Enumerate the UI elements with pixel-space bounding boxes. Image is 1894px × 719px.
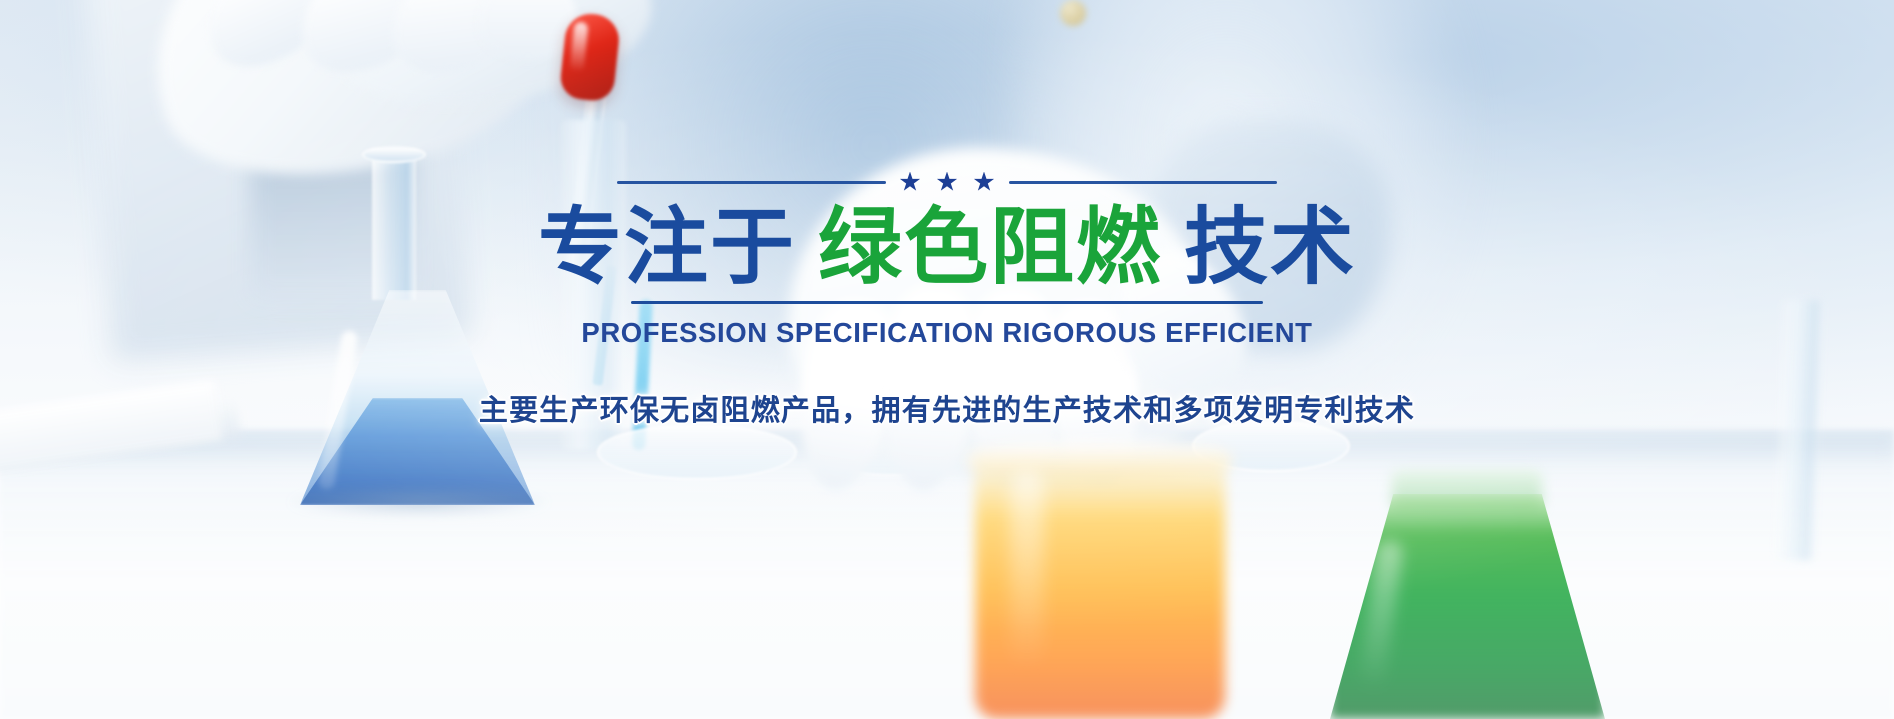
page-title: 专注于 绿色阻燃 技术 — [538, 204, 1356, 291]
title-divider — [631, 301, 1263, 304]
star-icon — [900, 172, 921, 193]
decorative-rule-left — [617, 181, 886, 184]
star-icon — [937, 172, 958, 193]
hero-banner: 专注于 绿色阻燃 技术 PROFESSION SPECIFICATION RIG… — [0, 0, 1894, 719]
headline-part-2: 绿色阻燃 — [818, 204, 1162, 291]
headline-part-3: 技术 — [1184, 204, 1356, 291]
banner-content: 专注于 绿色阻燃 技术 PROFESSION SPECIFICATION RIG… — [0, 0, 1894, 719]
star-icon — [974, 172, 995, 193]
banner-subtitle: 主要生产环保无卤阻燃产品，拥有先进的生产技术和多项发明专利技术 — [479, 387, 1415, 429]
english-tagline: PROFESSION SPECIFICATION RIGOROUS EFFICI… — [581, 317, 1312, 349]
decorative-rule-right — [1009, 181, 1278, 184]
headline-part-1: 专注于 — [538, 204, 796, 291]
star-group — [900, 172, 995, 193]
decorative-stars-row — [617, 170, 1277, 194]
